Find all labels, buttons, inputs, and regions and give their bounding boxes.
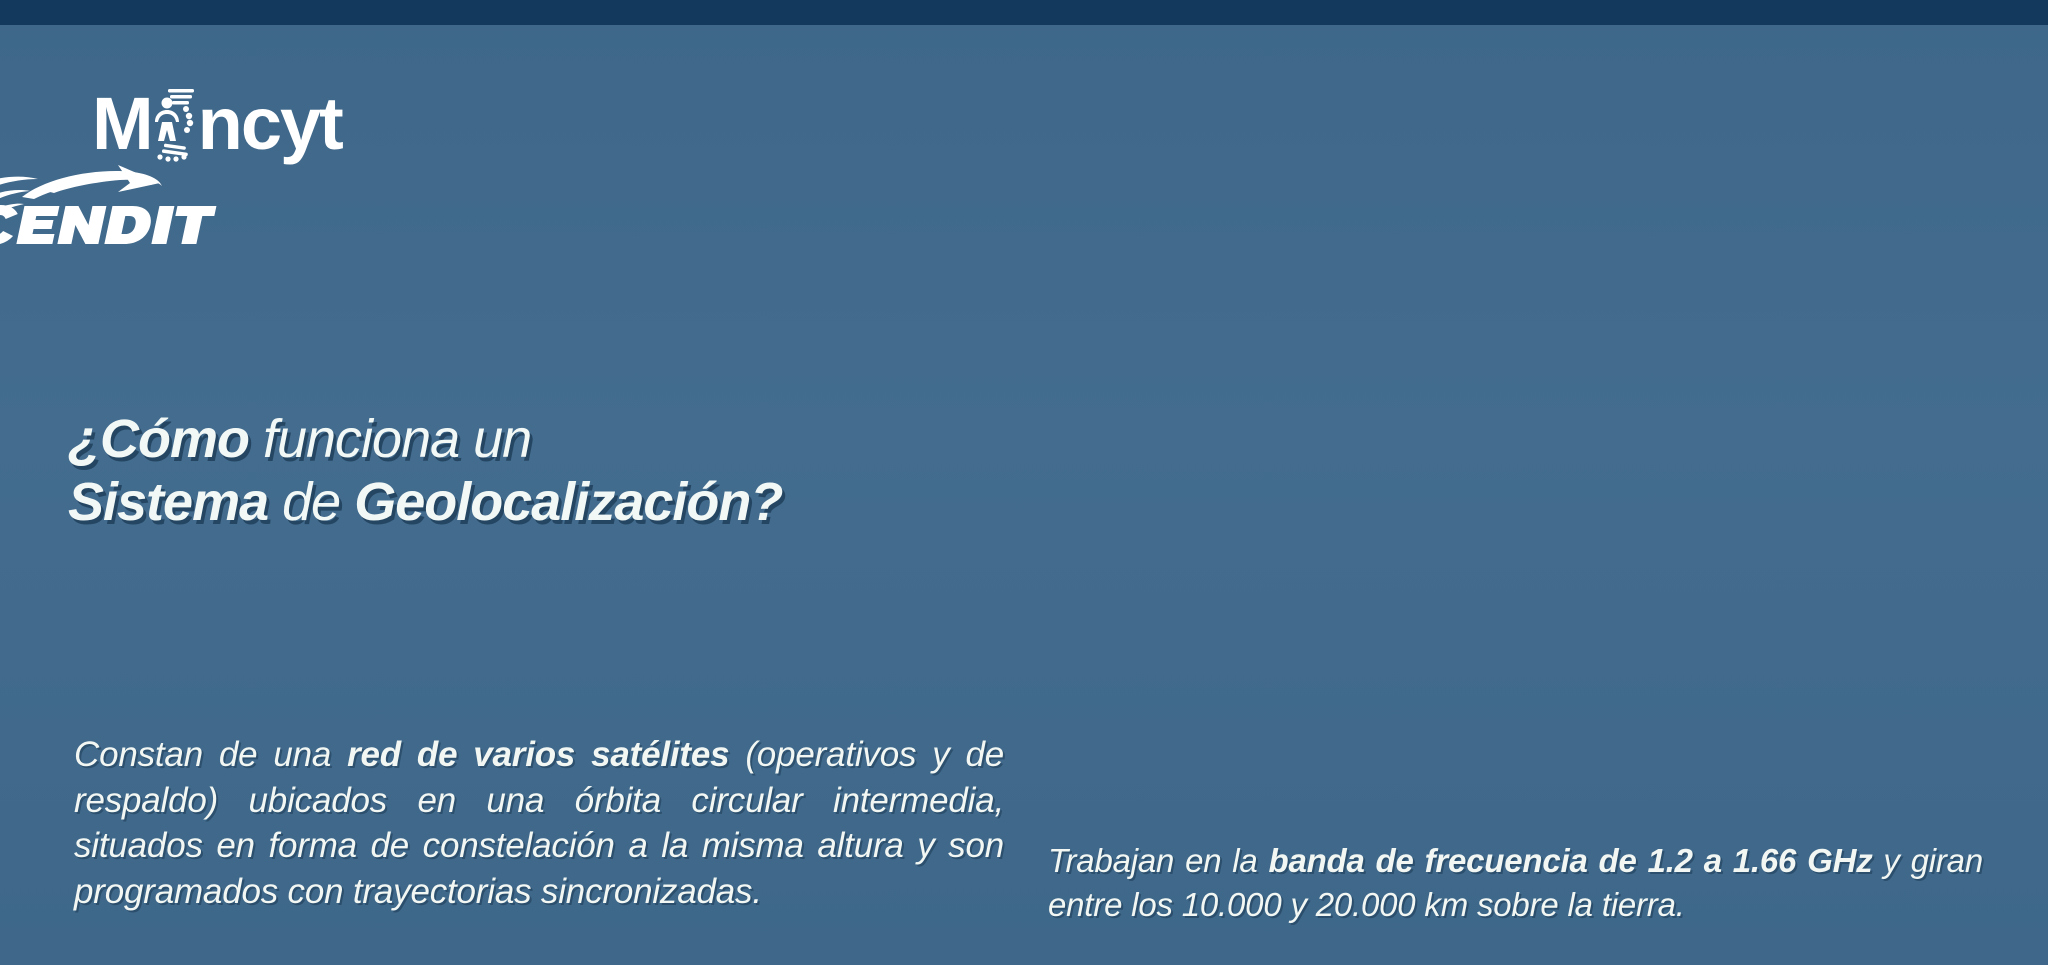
paragraph-left-pre: Constan de una (74, 735, 347, 774)
page-title-line-2: Sistema de Geolocalización? (68, 471, 968, 534)
page-title: ¿Cómo funciona un Sistema de Geolocaliza… (68, 408, 968, 533)
dna-figure-icon (146, 85, 202, 163)
infographic-canvas: M (0, 0, 2048, 965)
page-title-line2-bold-a: Sistema (68, 472, 268, 532)
page-title-line-1: ¿Cómo funciona un (68, 408, 968, 471)
page-title-line1-bold: ¿Cómo (68, 409, 249, 469)
page-title-line2-bold-b: Geolocalización? (354, 472, 782, 532)
mincyt-logo: M (92, 85, 2048, 163)
paragraph-right1-bold: banda de frecuencia de 1.2 a 1.66 GHz (1268, 842, 1872, 879)
paragraph-left-bold: red de varios satélites (347, 735, 729, 774)
mincyt-logo-text-ncyt: ncyt (198, 87, 342, 161)
mincyt-logo-text-m: M (92, 87, 152, 161)
paragraph-right1-pre: Trabajan en la (1048, 842, 1268, 879)
paragraph-right-1: Trabajan en la banda de frecuencia de 1.… (1048, 839, 1983, 926)
page-title-line2-regular: de (282, 472, 340, 532)
cendit-logo (0, 161, 220, 253)
page-title-line1-regular: funciona un (263, 409, 531, 469)
top-bar (0, 0, 2048, 25)
paragraph-left: Constan de una red de varios satélites (… (74, 732, 1004, 914)
